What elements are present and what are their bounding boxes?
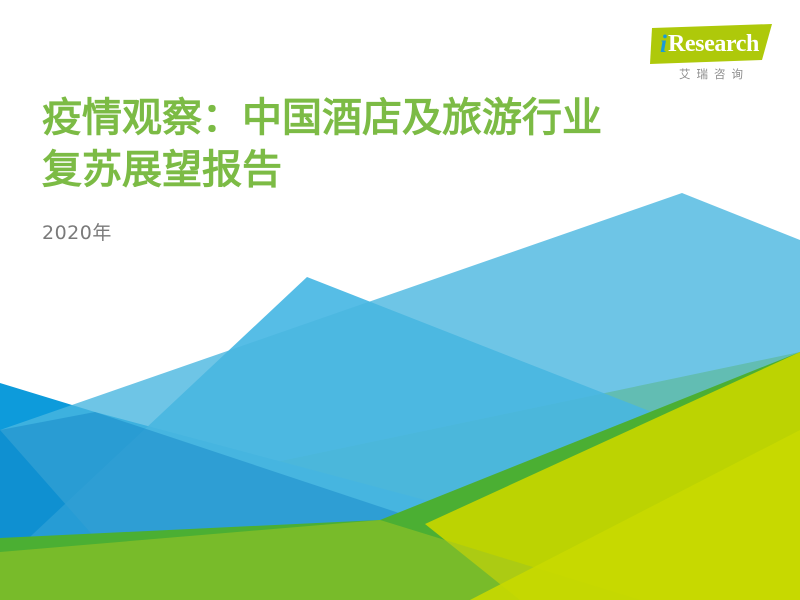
logo-chinese-name: 艾瑞咨询 [650, 69, 772, 83]
page-subtitle-year: 2020年 [42, 222, 762, 245]
logo-letter-i-icon: i [660, 32, 668, 57]
iresearch-logo: i Research 艾瑞咨询 [650, 24, 772, 83]
background-artwork [0, 0, 800, 600]
headline-block: 疫情观察：中国酒店及旅游行业 复苏展望报告 2020年 [42, 92, 762, 245]
page-title-line-2: 复苏展望报告 [42, 144, 762, 196]
report-cover-slide: i Research 艾瑞咨询 疫情观察：中国酒店及旅游行业 复苏展望报告 20… [0, 0, 800, 600]
page-title-line-1: 疫情观察：中国酒店及旅游行业 [42, 92, 762, 144]
logo-mark: i Research [650, 24, 772, 64]
logo-wordmark-text: Research [668, 32, 759, 56]
logo-wordmark: i Research [650, 24, 772, 64]
